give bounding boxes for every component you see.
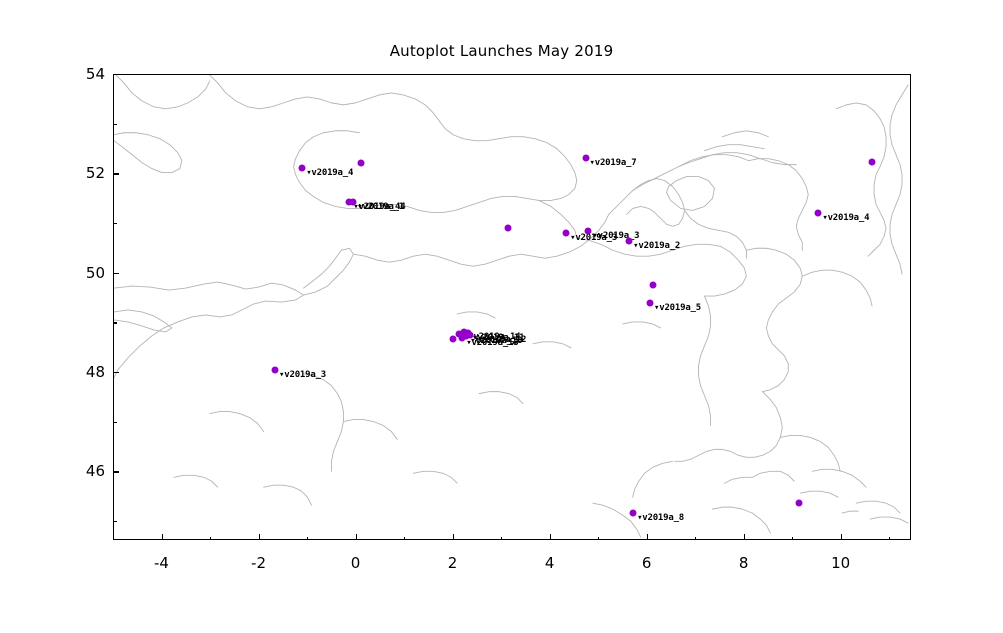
chart-title: Autoplot Launches May 2019 bbox=[0, 42, 1003, 60]
y-axis-minor-tick bbox=[113, 322, 117, 323]
data-point[interactable] bbox=[585, 228, 592, 235]
y-axis-tick-label: 50 bbox=[61, 264, 105, 282]
y-axis-tick bbox=[113, 173, 119, 174]
x-axis-minor-tick bbox=[889, 537, 890, 541]
x-axis-tick-label: 0 bbox=[351, 554, 361, 572]
data-point[interactable] bbox=[504, 225, 511, 232]
y-axis-minor-tick bbox=[113, 124, 117, 125]
y-axis-minor-tick bbox=[113, 422, 117, 423]
x-axis-minor-tick bbox=[307, 537, 308, 541]
data-point[interactable] bbox=[868, 158, 875, 165]
y-axis-tick bbox=[113, 471, 119, 472]
x-axis-minor-tick bbox=[501, 537, 502, 541]
data-point-label: ▾v2019a_5 bbox=[654, 303, 701, 313]
data-point-label: ▾v2019a_1 bbox=[357, 202, 404, 212]
data-point[interactable] bbox=[563, 229, 570, 236]
x-axis-tick-label: 2 bbox=[448, 554, 458, 572]
x-axis-tick-label: 6 bbox=[642, 554, 652, 572]
data-point[interactable] bbox=[650, 281, 657, 288]
x-axis-minor-tick bbox=[210, 537, 211, 541]
data-point-label: ▾v2019a_7 bbox=[590, 158, 637, 168]
data-point-label: ▾v2019a_4 bbox=[306, 168, 353, 178]
x-axis-tick bbox=[647, 534, 648, 540]
data-point[interactable] bbox=[459, 335, 466, 342]
x-axis-minor-tick bbox=[598, 537, 599, 541]
data-point[interactable] bbox=[647, 299, 654, 306]
data-point[interactable] bbox=[582, 155, 589, 162]
y-axis-tick-label: 54 bbox=[61, 65, 105, 83]
y-axis-minor-tick bbox=[113, 223, 117, 224]
x-axis-tick-label: 8 bbox=[739, 554, 749, 572]
data-point[interactable] bbox=[815, 210, 822, 217]
data-points-layer: ▾v2019a_4▾v2019a_44▾v2019a_1▾v2019a_3▾v2… bbox=[114, 75, 910, 539]
data-point[interactable] bbox=[350, 198, 357, 205]
y-axis-tick-label: 48 bbox=[61, 363, 105, 381]
plot-area: ▾v2019a_4▾v2019a_44▾v2019a_1▾v2019a_3▾v2… bbox=[113, 74, 911, 540]
x-axis-minor-tick bbox=[792, 537, 793, 541]
x-axis-tick bbox=[356, 534, 357, 540]
x-axis-tick-label: -2 bbox=[251, 554, 266, 572]
x-axis-tick-label: 10 bbox=[831, 554, 850, 572]
x-axis-tick-label: -4 bbox=[154, 554, 169, 572]
y-axis-minor-tick bbox=[113, 521, 117, 522]
x-axis-tick bbox=[162, 534, 163, 540]
x-axis-minor-tick bbox=[695, 537, 696, 541]
data-point-label: ▾v2019a_4 bbox=[822, 213, 869, 223]
data-point[interactable] bbox=[272, 366, 279, 373]
y-axis-tick bbox=[113, 74, 119, 75]
data-point[interactable] bbox=[630, 510, 637, 517]
x-axis-minor-tick bbox=[404, 537, 405, 541]
data-point-label: ▾v2019a_12 bbox=[474, 335, 526, 345]
x-axis-tick bbox=[453, 534, 454, 540]
data-point[interactable] bbox=[795, 500, 802, 507]
chart-page: Autoplot Launches May 2019 bbox=[0, 0, 1003, 633]
x-axis-minor-tick bbox=[113, 537, 114, 541]
data-point[interactable] bbox=[467, 332, 474, 339]
y-axis-tick bbox=[113, 372, 119, 373]
x-axis-tick bbox=[744, 534, 745, 540]
x-axis-tick bbox=[841, 534, 842, 540]
data-point-label: ▾v2019a_8 bbox=[637, 513, 684, 523]
y-axis-tick-label: 52 bbox=[61, 164, 105, 182]
y-axis-tick-label: 46 bbox=[61, 462, 105, 480]
data-point[interactable] bbox=[358, 160, 365, 167]
data-point[interactable] bbox=[626, 238, 633, 245]
data-point[interactable] bbox=[449, 336, 456, 343]
x-axis-tick-label: 4 bbox=[545, 554, 555, 572]
x-axis-tick bbox=[259, 534, 260, 540]
y-axis-tick bbox=[113, 273, 119, 274]
x-axis-tick bbox=[550, 534, 551, 540]
data-point[interactable] bbox=[299, 165, 306, 172]
data-point-label: ▾v2019a_2 bbox=[633, 241, 680, 251]
data-point-label: ▾v2019a_3 bbox=[279, 370, 326, 380]
